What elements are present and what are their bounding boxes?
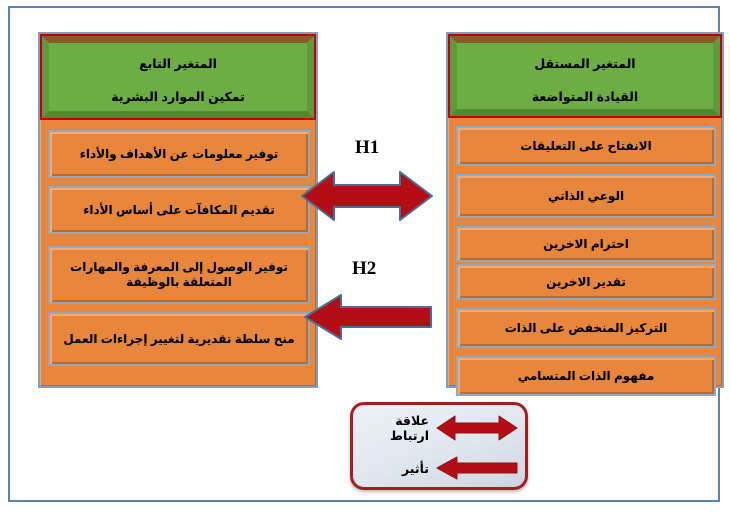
- right-item-2[interactable]: الوعي الذاتي: [456, 174, 716, 218]
- right-column-panel: المتغير المستقل القيادة المتواضعة الانفت…: [446, 32, 724, 388]
- right-item-1[interactable]: الانفتاح على التعليقات: [456, 126, 716, 166]
- left-arrow-icon: [435, 455, 519, 481]
- left-item-2-label: تقديم المكافآت على أساس الأداء: [83, 203, 275, 218]
- left-item-1[interactable]: توفير معلومات عن الأهداف والأداء: [48, 130, 310, 178]
- dependent-variable-subtitle: تمكين الموارد البشرية: [53, 91, 303, 104]
- right-item-3-label: احترام الاخرين: [543, 237, 629, 252]
- legend-row-influence: تأثير: [353, 449, 525, 487]
- right-item-5[interactable]: التركيز المنخفض على الذات: [456, 308, 716, 348]
- dependent-variable-title: المتغير التابع: [53, 58, 303, 71]
- left-item-2[interactable]: تقديم المكافآت على أساس الأداء: [48, 186, 310, 234]
- independent-variable-subtitle: القيادة المتواضعة: [461, 91, 709, 104]
- independent-variable-header: المتغير المستقل القيادة المتواضعة: [448, 34, 722, 118]
- hypothesis-h1-label: H1: [355, 137, 379, 159]
- right-item-6-label: مفهوم الذات المتسامي: [518, 369, 655, 384]
- left-item-3[interactable]: توفير الوصول إلى المعرفة والمهارات المتع…: [48, 246, 310, 304]
- left-item-4-label: منح سلطة تقديرية لتغيير إجراءات العمل: [63, 332, 294, 347]
- left-item-4[interactable]: منح سلطة تقديرية لتغيير إجراءات العمل: [48, 312, 310, 366]
- legend-box: علاقة ارتباط تأثير: [350, 402, 528, 490]
- diagram-page: المتغير التابع تمكين الموارد البشرية توف…: [0, 0, 730, 512]
- legend-influence-label: تأثير: [353, 461, 429, 476]
- legend-association-label: علاقة ارتباط: [353, 413, 429, 443]
- hypothesis-h2-label: H2: [352, 258, 376, 280]
- right-item-4-label: تقدير الاخرين: [546, 275, 626, 290]
- left-item-1-label: توفير معلومات عن الأهداف والأداء: [80, 147, 278, 162]
- right-item-5-label: التركيز المنخفض على الذات: [505, 321, 668, 336]
- independent-variable-title: المتغير المستقل: [461, 58, 709, 71]
- right-item-4[interactable]: تقدير الاخرين: [456, 264, 716, 300]
- hypothesis-h1-double-headed-arrow: [300, 168, 434, 224]
- right-item-1-label: الانفتاح على التعليقات: [520, 139, 651, 154]
- right-item-2-label: الوعي الذاتي: [548, 189, 624, 204]
- legend-row-association: علاقة ارتباط: [353, 409, 525, 447]
- legend-association-arrow-cell: [429, 414, 525, 442]
- right-item-3[interactable]: احترام الاخرين: [456, 226, 716, 262]
- hypothesis-h2-left-arrow: [303, 292, 433, 342]
- double-headed-arrow-icon: [435, 414, 519, 442]
- left-column-panel: المتغير التابع تمكين الموارد البشرية توف…: [38, 32, 318, 388]
- legend-influence-arrow-cell: [429, 455, 525, 481]
- dependent-variable-header: المتغير التابع تمكين الموارد البشرية: [40, 34, 316, 120]
- left-item-3-label: توفير الوصول إلى المعرفة والمهارات المتع…: [60, 260, 298, 290]
- right-item-6[interactable]: مفهوم الذات المتسامي: [456, 356, 716, 396]
